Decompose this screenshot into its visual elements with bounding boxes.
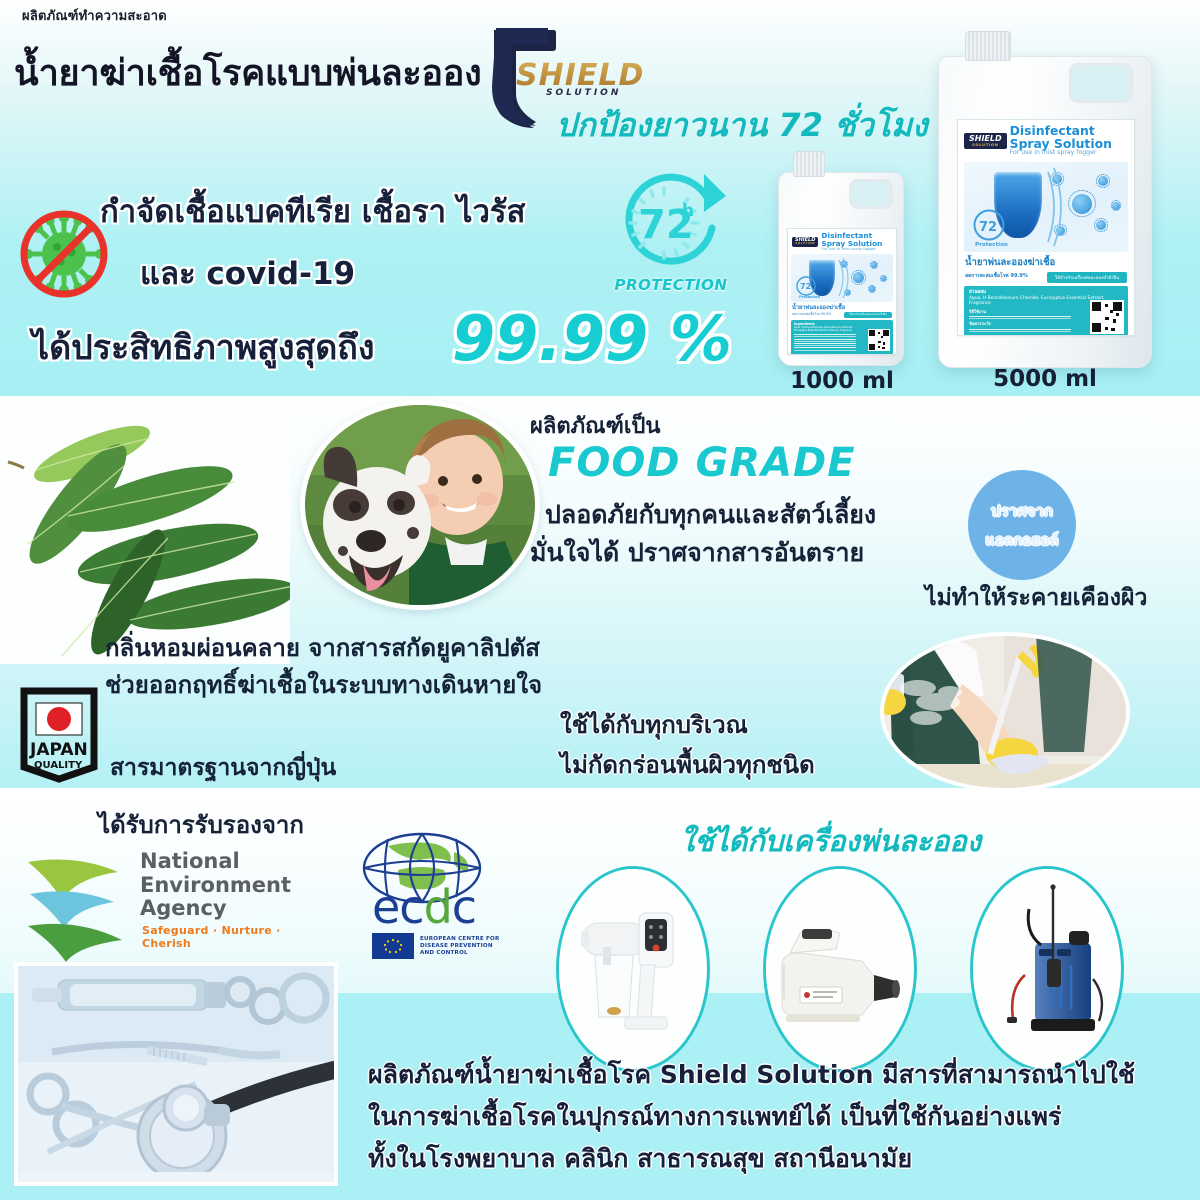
product-bottle-5000: SHIELD SOLUTION Disinfectant Spray Solut… [930, 26, 1160, 396]
footer-line1: ผลิตภัณฑ์น้ำยาฆ่าเชื้อโรค Shield Solutio… [368, 1055, 1135, 1095]
eucalyptus-leaves-photo [0, 404, 290, 664]
72h-protection-badge: 72 h PROTECTION [608, 166, 734, 292]
japan-quality-caption: สารมาตรฐานจากญี่ปุ่น [110, 750, 336, 786]
footer-line3: ทั้งในโรงพยาบาล คลินิก สาธารณสุข สถานีอน… [368, 1139, 912, 1179]
surfaces-line2: ไม่กัดกร่อนพื้นผิวทุกชนิด [560, 745, 815, 784]
nea-name: National Environment Agency [140, 850, 291, 921]
label-ingredients-heading-5000: ส่วนผสม [969, 289, 1123, 296]
infographic-page: ผลิตภัณฑ์ทำความสะอาด น้ำยาฆ่าเชื้อโรคแบบ… [0, 0, 1200, 1200]
label-title-5000: Disinfectant Spray Solution [1010, 125, 1128, 150]
label-title-1000: Disinfectant Spray Solution [821, 232, 892, 247]
certifications-kicker: ได้รับการรับรองจาก [98, 805, 304, 844]
japan-quality-icon: JAPAN QUALITY [16, 683, 102, 783]
ecdc-wordmark: ecdc [372, 884, 476, 930]
svg-text:72: 72 [800, 282, 811, 291]
nea-name-line3: Agency [140, 897, 291, 921]
claim-efficacy-label: ได้ประสิทธิภาพสูงสุดถึง [32, 320, 375, 374]
svg-text:Protection: Protection [799, 295, 821, 299]
badge-hours-unit: h [682, 201, 694, 221]
bottle-5000-caption: 5000 ml [930, 366, 1160, 392]
food-grade-line1: ปลอดภัยกับทุกคนและสัตว์เลี้ยง [545, 495, 876, 535]
svg-text:Protection: Protection [975, 242, 1008, 248]
ecdc-subtitle-line1: EUROPEAN CENTRE FOR [420, 936, 500, 943]
label-subtitle-1000: For use in mist spray fogger [821, 247, 892, 251]
product-kicker: ผลิตภัณฑ์ทำความสะอาด [22, 5, 167, 26]
alcohol-free-caption: ไม่ทำให้ระคายเคืองผิว [925, 580, 1147, 616]
label-qr-code-5000 [1090, 300, 1124, 334]
quality-label: QUALITY [34, 760, 83, 771]
label-thai-name-1000: น้ำยาพ่นละอองฆ่าเชื้อ [792, 304, 892, 312]
label-brand-logo-1000: SHIELD SOLUTION [792, 237, 818, 247]
device-ulv-cold-fogger [763, 866, 917, 1072]
shield-sub-wordmark: SOLUTION [546, 88, 621, 98]
eu-flag-icon [372, 933, 414, 959]
label-thai-claim-1000: ลดการสะสมเชื้อโรค 99.9% [792, 312, 842, 317]
japan-quality-badge: JAPAN QUALITY [16, 683, 102, 783]
medical-instruments-photo [14, 962, 338, 1186]
surfaces-line1: ใช้ได้กับทุกบริเวณ [560, 705, 748, 744]
claim-covid: และ covid-19 [140, 248, 355, 298]
cleaning-spray-photo [880, 632, 1200, 792]
alcohol-free-line1: ปราศจาก [991, 499, 1053, 523]
virus-blocked-icon [14, 202, 114, 307]
boy-with-dog-photo [300, 400, 540, 610]
japan-label: JAPAN [29, 740, 88, 760]
label-chip-5000: ใช้สำหรับเครื่องพ่นละอองทำฝ้าฝืน [1047, 272, 1127, 283]
ecdc-subtitle: EUROPEAN CENTRE FOR DISEASE PREVENTION A… [420, 936, 500, 956]
footer-line2: ในการฆ่าเชื้อโรคในปุกรณ์ทางการแพทย์ได้ เ… [368, 1097, 1061, 1137]
bottle-1000-caption: 1000 ml [772, 368, 912, 394]
product-bottle-1000: SHIELD SOLUTION Disinfectant Spray Solut… [772, 146, 912, 396]
claim-germs: กำจัดเชื้อแบคทีเรีย เชื้อรา ไวรัส [100, 186, 525, 236]
page-title: น้ำยาฆ่าเชื้อโรคแบบพ่นละออง [14, 44, 481, 101]
nea-leaf-icon [22, 844, 132, 962]
ecdc-subtitle-line2: DISEASE PREVENTION [420, 943, 500, 950]
label-artwork-1000: 72 Protection [791, 254, 893, 302]
badge-protection-label: PROTECTION [608, 276, 734, 294]
label-thai-name-5000: น้ำยาพ่นละอองฆ่าเชื้อ [965, 255, 1127, 270]
nea-name-line2: Environment [140, 874, 291, 898]
alcohol-free-line2: แอลกอฮอล์ [985, 528, 1058, 552]
food-grade-title: FOOD GRADE [548, 440, 856, 486]
food-grade-line2: มั่นใจได้ ปราศจากสารอันตราย [530, 533, 864, 573]
nea-logo: National Environment Agency Safeguard · … [22, 840, 322, 965]
label-brand-logo-5000: SHIELD SOLUTION [964, 133, 1007, 149]
eucalyptus-line2: ช่วยออกฤทธิ์ฆ่าเชื้อในระบบทางเดินหายใจ [105, 665, 542, 704]
device-handheld-nano-spray-gun [556, 866, 710, 1072]
eucalyptus-line1: กลิ่นหอมผ่อนคลาย จากสารสกัดยูคาลิปตัส [105, 628, 540, 667]
svg-text:72: 72 [979, 220, 997, 235]
ecdc-subtitle-line3: AND CONTROL [420, 950, 500, 957]
nea-tagline: Safeguard · Nurture · Cherish [142, 924, 322, 950]
label-chip-1000: ใช้สำหรับเครื่องพ่นละอองทำฝ้าฝืน [844, 312, 892, 318]
label-qr-code-1000 [868, 329, 890, 351]
label-thai-claim-5000: ลดการสะสมเชื้อโรค 99.9% [965, 272, 1043, 280]
label-artwork-5000: 72 Protection [964, 162, 1128, 252]
label-subtitle-5000: For use in mist spray fogger [1010, 150, 1128, 157]
protection-tagline: ปกป้องยาวนาน 72 ชั่วโมง [556, 100, 928, 151]
label-ingredients-1000: Aqua, Hydroxyethylurea, Benzalkonium Chl… [794, 326, 856, 332]
ecdc-logo: ecdc EUROPEAN CENTRE FOR DISEASE PREVENT… [340, 832, 530, 962]
food-grade-kicker: ผลิตภัณฑ์เป็น [530, 408, 660, 443]
alcohol-free-badge: ปราศจาก แอลกอฮอล์ [968, 470, 1076, 580]
clock-arrow-icon: 72 h [608, 166, 734, 276]
nea-name-line1: National [140, 850, 291, 874]
device-backpack-sprayer [970, 866, 1124, 1072]
claim-efficacy-percent: 99.99 % [452, 302, 732, 375]
sprayers-title: ใช้ได้กับเครื่องพ่นละออง [680, 818, 981, 864]
